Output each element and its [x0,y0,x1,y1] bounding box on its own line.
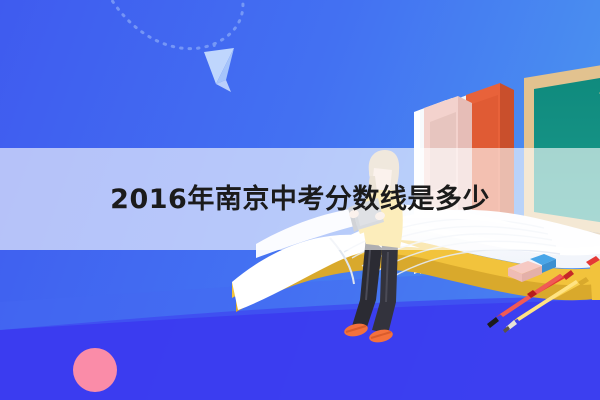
pink-circle-decoration [73,348,117,392]
banner-image: 2016年南京中考分数线是多少 [0,0,600,400]
illustration-canvas [0,0,600,400]
